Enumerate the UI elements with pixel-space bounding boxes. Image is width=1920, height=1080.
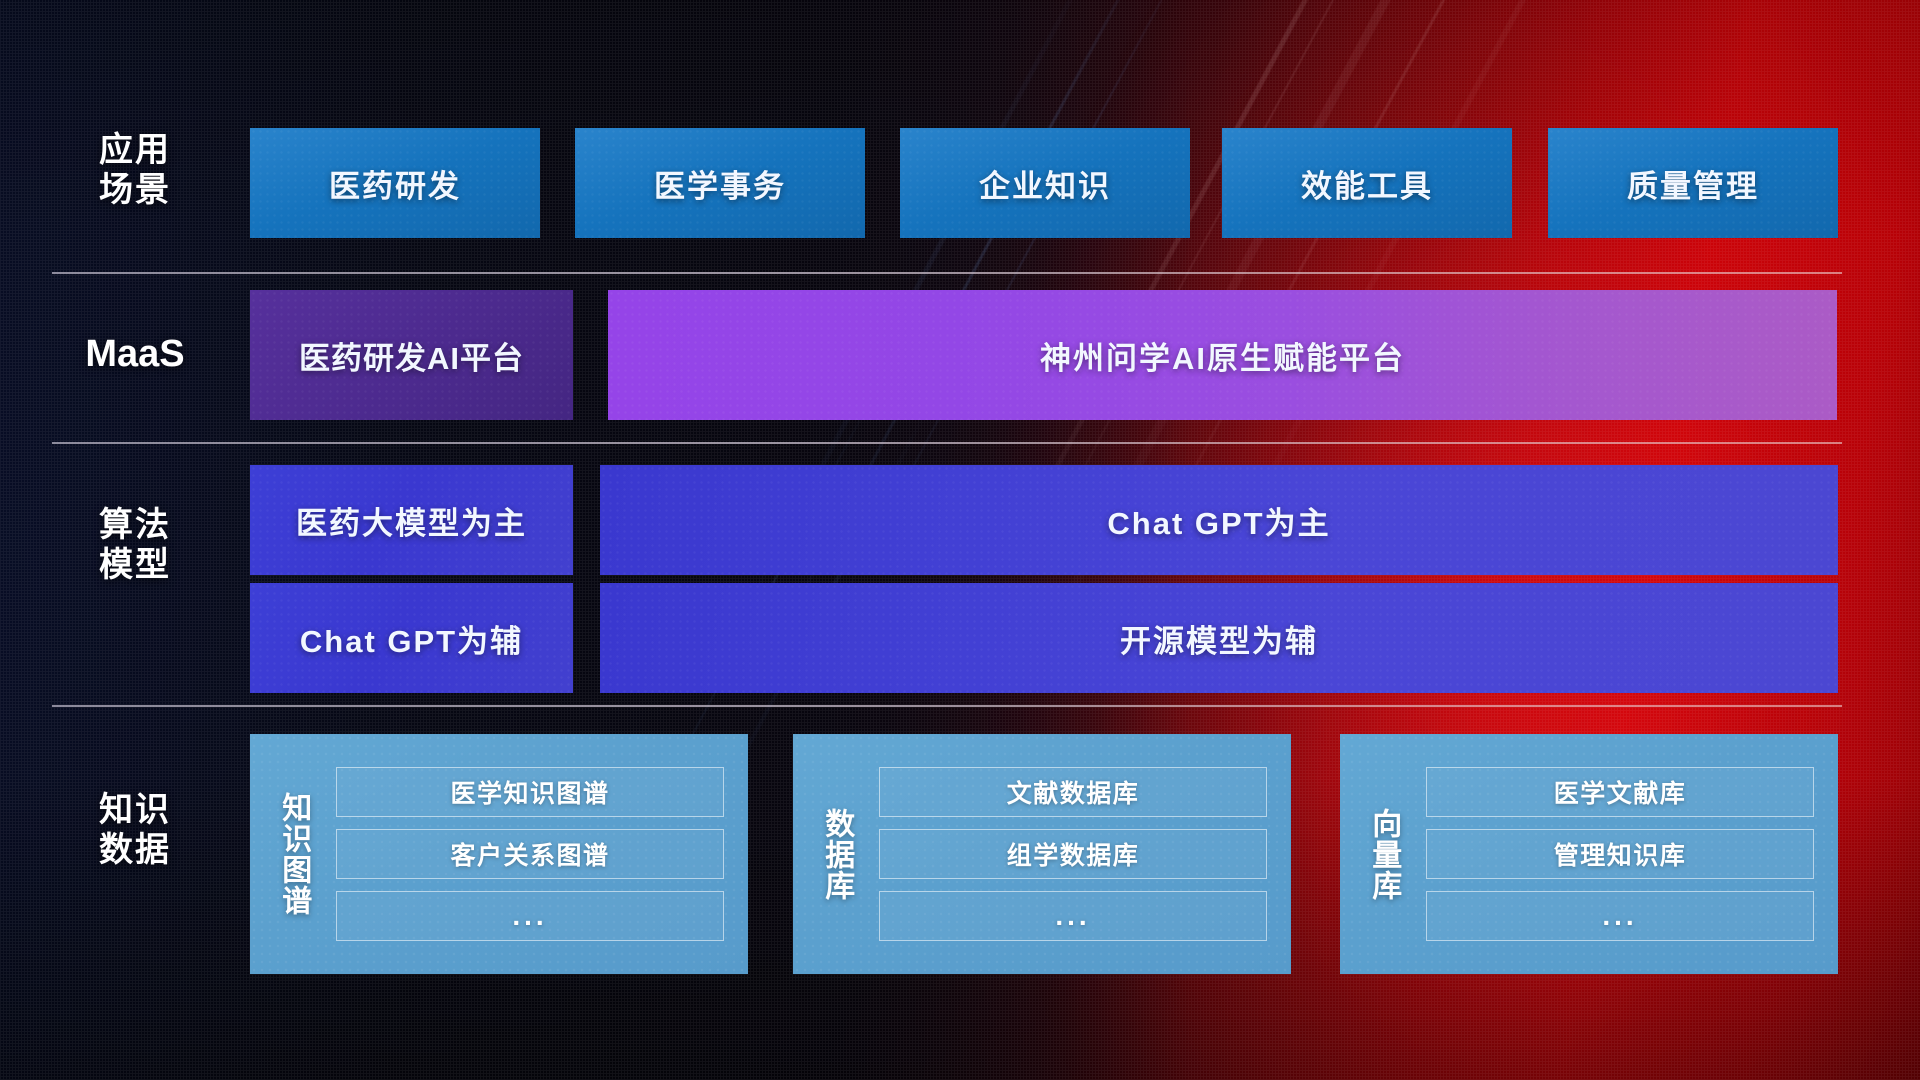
application-box-4[interactable]: 效能工具 [1222,128,1512,238]
divider-3 [52,705,1842,707]
divider-1 [52,272,1842,274]
maas-box-shenzhou-platform[interactable]: 神州问学AI原生赋能平台 [608,290,1837,420]
application-box-3[interactable]: 企业知识 [900,128,1190,238]
maas-box-drug-ai-platform[interactable]: 医药研发AI平台 [250,290,573,420]
knowledge-item[interactable]: 医学知识图谱 [336,767,724,817]
application-box-5[interactable]: 质量管理 [1548,128,1838,238]
knowledge-panel-vector-store[interactable]: 向量库 医学文献库 管理知识库 ... [1340,734,1838,974]
knowledge-item-more[interactable]: ... [1426,891,1814,941]
algorithm-box-row2-left[interactable]: Chat GPT为辅 [250,583,573,693]
knowledge-panel-items: 医学知识图谱 客户关系图谱 ... [336,734,748,974]
algorithm-box-row1-left[interactable]: 医药大模型为主 [250,465,573,575]
slide-canvas: 应用 场景 医药研发 医学事务 企业知识 效能工具 质量管理 MaaS 医药研发… [0,0,1920,1080]
algorithm-box-row1-right[interactable]: Chat GPT为主 [600,465,1838,575]
knowledge-panel-title: 向量库 [1340,734,1426,974]
knowledge-panel-title: 知识图谱 [250,734,336,974]
knowledge-item[interactable]: 管理知识库 [1426,829,1814,879]
knowledge-item-more[interactable]: ... [336,891,724,941]
knowledge-panel-knowledge-graph[interactable]: 知识图谱 医学知识图谱 客户关系图谱 ... [250,734,748,974]
divider-2 [52,442,1842,444]
knowledge-panel-items: 文献数据库 组学数据库 ... [879,734,1291,974]
application-box-2[interactable]: 医学事务 [575,128,865,238]
knowledge-item[interactable]: 组学数据库 [879,829,1267,879]
row-label-application: 应用 场景 [55,130,215,210]
knowledge-item[interactable]: 客户关系图谱 [336,829,724,879]
application-box-1[interactable]: 医药研发 [250,128,540,238]
algorithm-box-row2-right[interactable]: 开源模型为辅 [600,583,1838,693]
row-label-algorithm: 算法 模型 [55,505,215,585]
row-label-maas: MaaS [55,332,215,377]
knowledge-panel-database[interactable]: 数据库 文献数据库 组学数据库 ... [793,734,1291,974]
knowledge-panel-items: 医学文献库 管理知识库 ... [1426,734,1838,974]
row-label-knowledge: 知识 数据 [55,790,215,870]
knowledge-panel-title: 数据库 [793,734,879,974]
knowledge-item-more[interactable]: ... [879,891,1267,941]
knowledge-item[interactable]: 文献数据库 [879,767,1267,817]
knowledge-item[interactable]: 医学文献库 [1426,767,1814,817]
